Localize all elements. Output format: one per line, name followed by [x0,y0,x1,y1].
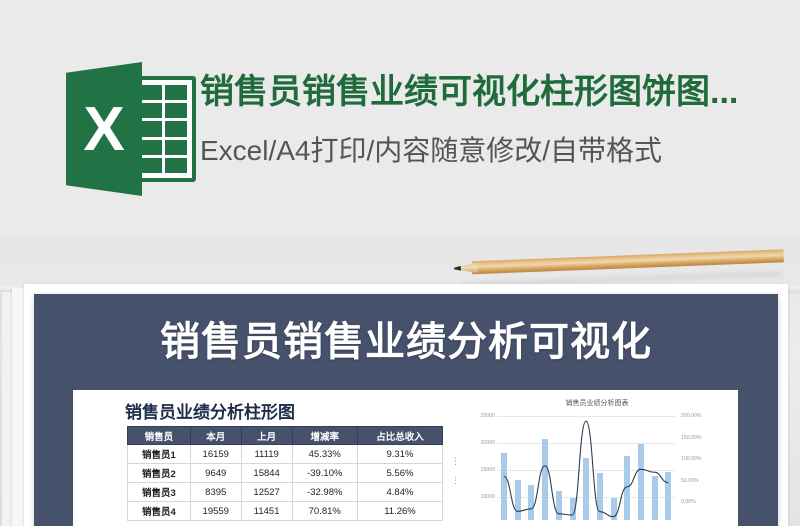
document-body: 销售员业绩分析柱形图 销售员 本月 上月 增减率 占比总收入 销售员1 1615… [73,390,738,526]
chart-left-tick: 10000 [465,494,495,500]
cell-income-share: 11.26% [357,502,442,521]
pencil-graphite-tip [454,266,461,271]
table-row: 销售员2 9649 15844 -39.10% 5.56% [128,464,443,483]
column-header-income-share: 占比总收入 [357,427,442,445]
cell-income-share: 5.56% [357,464,442,483]
cell-growth-rate: 45.33% [292,445,357,464]
table-heading: 销售员业绩分析柱形图 [125,398,405,420]
chart-left-tick: 20000 [465,440,495,446]
table-row: 销售员3 8395 12527 -32.98% 4.84% [128,483,443,502]
cell-growth-rate: -32.98% [292,483,357,502]
sales-chart: 销售员业绩分析图表 25000200001500010000200.00%150… [463,396,731,524]
cell-salesperson: 销售员3 [128,483,191,502]
cell-this-month: 19559 [190,502,241,521]
excel-file-icon: X [58,58,204,200]
screenshot-root: X 销售员销售业绩可视化柱形图饼图... Excel/A4打印/内容随意修改/自… [0,0,800,526]
chart-right-tick: 50.00% [681,478,721,484]
table-header-row: 销售员 本月 上月 增减率 占比总收入 [128,427,443,445]
chart-left-tick: 15000 [465,467,495,473]
page-title: 销售员销售业绩可视化柱形图饼图... [200,68,780,116]
column-header-last-month: 上月 [241,427,292,445]
document-preview[interactable]: 销售员销售业绩分析可视化 销售员业绩分析柱形图 销售员 本月 上月 增减率 占比… [34,294,778,526]
cell-last-month: 11119 [241,445,292,464]
cell-income-share: 4.84% [357,483,442,502]
product-banner: X 销售员销售业绩可视化柱形图饼图... Excel/A4打印/内容随意修改/自… [0,0,800,238]
cell-this-month: 9649 [190,464,241,483]
table-overflow-marker: ⋮⋮ [451,452,460,490]
chart-trend-line [497,412,675,520]
chart-plot-area [497,412,675,520]
sales-table: 销售员 本月 上月 增减率 占比总收入 销售员1 16159 11119 45.… [127,426,443,521]
cell-salesperson: 销售员1 [128,445,191,464]
column-header-growth-rate: 增减率 [292,427,357,445]
cell-income-share: 9.31% [357,445,442,464]
chart-left-tick: 25000 [465,413,495,419]
chart-right-tick: 200.00% [681,413,721,419]
chart-title: 销售员业绩分析图表 [463,398,731,408]
page-subtitle: Excel/A4打印/内容随意修改/自带格式 [200,130,780,172]
cell-last-month: 15844 [241,464,292,483]
document-title: 销售员销售业绩分析可视化 [34,316,778,368]
cell-this-month: 16159 [190,445,241,464]
cell-salesperson: 销售员4 [128,502,191,521]
chart-right-tick: 0.00% [681,499,721,505]
excel-icon-letter: X [66,62,142,196]
chart-right-tick: 100.00% [681,456,721,462]
column-header-salesperson: 销售员 [128,427,191,445]
column-header-this-month: 本月 [190,427,241,445]
chart-right-tick: 150.00% [681,435,721,441]
cell-last-month: 12527 [241,483,292,502]
cell-last-month: 11451 [241,502,292,521]
table-row: 销售员4 19559 11451 70.81% 11.26% [128,502,443,521]
cell-salesperson: 销售员2 [128,464,191,483]
cell-growth-rate: 70.81% [292,502,357,521]
table-row: 销售员1 16159 11119 45.33% 9.31% [128,445,443,464]
cell-this-month: 8395 [190,483,241,502]
cell-growth-rate: -39.10% [292,464,357,483]
